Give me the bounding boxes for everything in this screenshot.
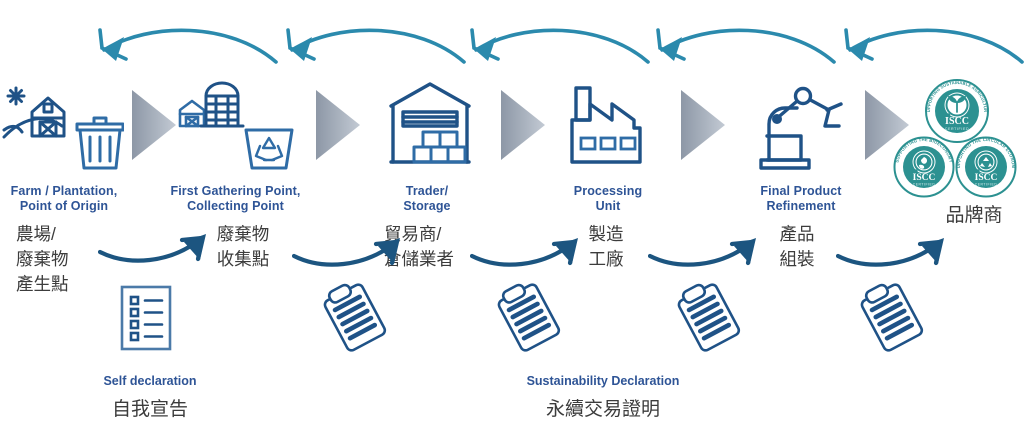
flow-connector-arrow-5	[836, 222, 964, 280]
stage-farm-icons	[2, 80, 124, 172]
stage-label-en-final-product-refinement: Final Product Refinement	[731, 184, 871, 214]
checklist-document-icon	[120, 285, 172, 356]
svg-text:ISCC: ISCC	[913, 173, 936, 183]
certificate-document-icon-3	[672, 280, 744, 361]
reverse-flow-arrow-4	[648, 24, 838, 70]
certificate-document-icon-1	[318, 280, 390, 361]
stage-label-en-first-gathering-point: First Gathering Point, Collecting Point	[158, 184, 313, 214]
iscc-badge-circular-economy: ISCC CERTIFIED SUPPORTING THE CIRCULAR E…	[955, 136, 1017, 198]
iscc-badge-sustainable-agriculture: ISCC CERTIFIED SUPPORTING SUSTAINABLE AG…	[924, 78, 990, 144]
flow-connector-arrow-1	[98, 218, 226, 276]
svg-text:ISCC: ISCC	[975, 173, 998, 183]
reverse-flow-arrow-1	[90, 24, 280, 70]
certificate-document-icon-2	[492, 280, 564, 361]
stage-label-en-trader-storage: Trader/ Storage	[372, 184, 482, 214]
declaration-label-en-sustainability: Sustainability Declaration	[483, 374, 723, 388]
reverse-flow-arrow-2	[278, 24, 468, 70]
stage-final-product-icons	[753, 80, 849, 172]
declaration-label-zh-self: 自我宣告	[30, 394, 270, 421]
supply-chain-diagram: ISCC CERTIFIED SUPPORTING SUSTAINABLE AG…	[0, 0, 1024, 437]
iscc-brand-text: ISCC	[945, 116, 969, 127]
stage-trader-storage-icons	[387, 80, 473, 172]
iscc-sub-text: CERTIFIED	[945, 127, 969, 131]
svg-text:CERTIFIED: CERTIFIED	[975, 183, 997, 187]
stage-processing-unit-icons	[568, 80, 648, 172]
declaration-label-en-self: Self declaration	[30, 374, 270, 388]
stage-first-gathering-icons	[176, 80, 294, 172]
stage-label-en-processing-unit: Processing Unit	[552, 184, 664, 214]
flow-triangle-1	[128, 88, 180, 162]
flow-triangle-2	[312, 88, 364, 162]
declaration-label-zh-sustainability: 永續交易證明	[483, 394, 723, 421]
svg-text:CERTIFIED: CERTIFIED	[913, 183, 935, 187]
flow-triangle-3	[497, 88, 549, 162]
reverse-flow-arrow-5	[836, 24, 1024, 70]
flow-connector-arrow-4	[648, 222, 776, 280]
stage-label-en-farm: Farm / Plantation, Point of Origin	[0, 184, 128, 214]
flow-connector-arrow-3	[470, 222, 598, 280]
flow-triangle-4	[677, 88, 729, 162]
flow-connector-arrow-2	[292, 222, 420, 280]
certificate-document-icon-4	[855, 280, 927, 361]
iscc-badge-bioeconomy: ISCC CERTIFIED SUPPORTING THE BIOECONOMY	[893, 136, 955, 198]
reverse-flow-arrow-3	[462, 24, 652, 70]
